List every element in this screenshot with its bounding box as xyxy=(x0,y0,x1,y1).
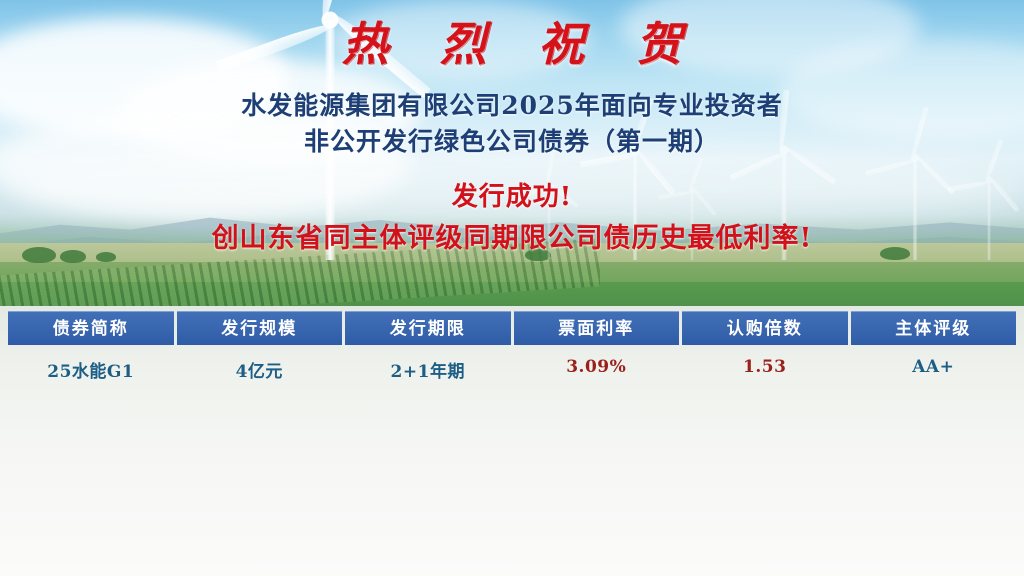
table-data-row: 25水能G1 4亿元 2+1年期 3.09% 1.53 AA+ xyxy=(8,357,1016,382)
table-cell-bond-name: 25水能G1 xyxy=(8,357,174,382)
table-header-coupon-rate: 票面利率 xyxy=(514,311,680,345)
table-header-row: 债券简称 发行规模 发行期限 票面利率 认购倍数 主体评级 xyxy=(8,311,1016,345)
details-panel: 债券简称 发行规模 发行期限 票面利率 认购倍数 主体评级 25水能G1 4亿元… xyxy=(0,306,1024,576)
table-cell-coupon-rate: 3.09% xyxy=(514,357,680,382)
bond-title-line-1: 水发能源集团有限公司2025年面向专业投资者 xyxy=(0,88,1024,124)
table-header-bond-name: 债券简称 xyxy=(8,311,174,345)
issuance-success-text: 发行成功! xyxy=(0,181,1024,215)
record-low-rate-text: 创山东省同主体评级同期限公司债历史最低利率! xyxy=(0,221,1024,256)
table-header-subscription-multiple: 认购倍数 xyxy=(682,311,848,345)
bond-summary-table: 债券简称 发行规模 发行期限 票面利率 认购倍数 主体评级 25水能G1 4亿元… xyxy=(8,311,1016,382)
table-cell-issuer-rating: AA+ xyxy=(851,357,1017,382)
congratulation-poster: 热 烈 祝 贺 水发能源集团有限公司2025年面向专业投资者 非公开发行绿色公司… xyxy=(0,0,1024,576)
table-header-issuer-rating: 主体评级 xyxy=(851,311,1017,345)
table-header-issue-size: 发行规模 xyxy=(177,311,343,345)
table-cell-subscription-multiple: 1.53 xyxy=(682,357,848,382)
table-cell-issue-size: 4亿元 xyxy=(177,357,343,382)
congratulations-heading: 热 烈 祝 贺 xyxy=(0,8,1024,74)
bond-title-line-2: 非公开发行绿色公司债券（第一期） xyxy=(0,124,1024,160)
table-header-term: 发行期限 xyxy=(345,311,511,345)
hero-text-block: 热 烈 祝 贺 水发能源集团有限公司2025年面向专业投资者 非公开发行绿色公司… xyxy=(0,0,1024,306)
table-cell-term: 2+1年期 xyxy=(345,357,511,382)
